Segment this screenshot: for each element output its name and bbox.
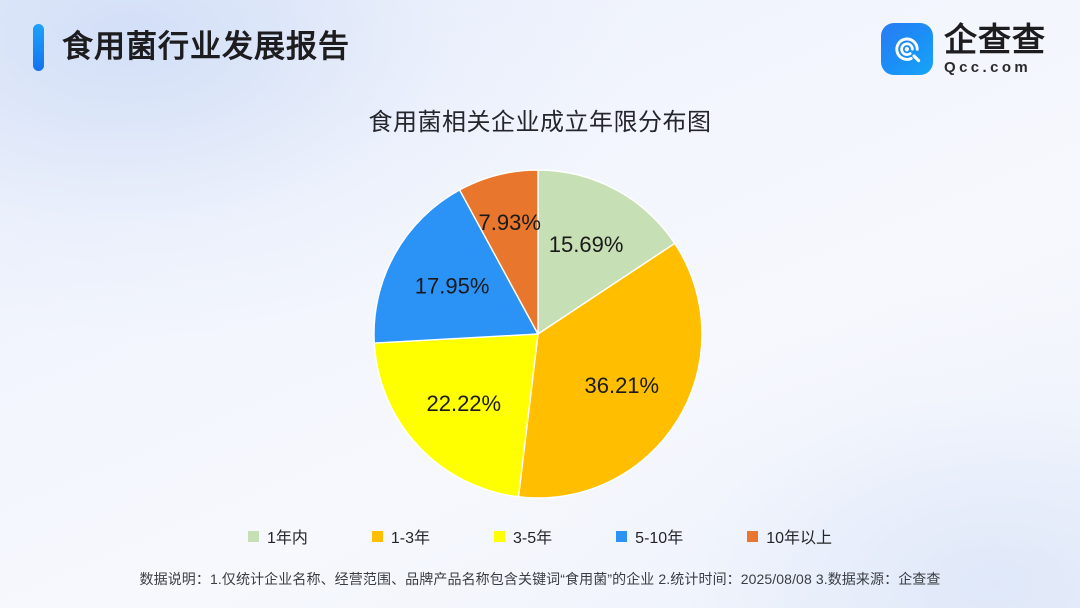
legend-swatch-icon	[248, 531, 259, 542]
pie-chart-svg: 15.69%36.21%22.22%17.95%7.93%	[372, 168, 704, 500]
legend-label: 1年内	[267, 524, 308, 548]
legend-label: 5-10年	[635, 524, 683, 548]
legend-item[interactable]: 5-10年	[616, 524, 683, 548]
chart-legend: 1年内1-3年3-5年5-10年10年以上	[0, 524, 1080, 548]
qcc-logo-icon	[881, 23, 933, 75]
legend-label: 3-5年	[513, 524, 552, 548]
pie-slice-label: 36.21%	[584, 373, 659, 398]
pie-slice-label: 7.93%	[479, 210, 541, 235]
footer-note: 数据说明：1.仅统计企业名称、经营范围、品牌产品名称包含关键词“食用菌”的企业 …	[0, 569, 1080, 589]
brand-name-cn: 企查查	[944, 23, 1046, 57]
brand-name-en: Qcc.com	[944, 59, 1046, 76]
legend-item[interactable]: 3-5年	[494, 524, 552, 548]
page-title: 食用菌行业发展报告	[62, 22, 350, 72]
legend-item[interactable]: 1年内	[248, 524, 308, 548]
report-page: 食用菌行业发展报告 企查查 Qcc.com 食用菌相关企业成立年限分布图	[0, 0, 1080, 608]
pie-slice-label: 22.22%	[426, 391, 501, 416]
page-header: 食用菌行业发展报告 企查查 Qcc.com	[0, 0, 1080, 92]
pie-slice-label: 15.69%	[549, 232, 624, 257]
title-accent-bar	[33, 24, 44, 71]
legend-swatch-icon	[494, 531, 505, 542]
pie-chart: 15.69%36.21%22.22%17.95%7.93%	[372, 168, 704, 500]
legend-label: 10年以上	[766, 524, 832, 548]
legend-item[interactable]: 10年以上	[747, 524, 832, 548]
legend-item[interactable]: 1-3年	[372, 524, 430, 548]
legend-swatch-icon	[616, 531, 627, 542]
legend-swatch-icon	[372, 531, 383, 542]
brand-logo[interactable]: 企查查 Qcc.com	[881, 23, 1046, 75]
legend-label: 1-3年	[391, 524, 430, 548]
chart-title: 食用菌相关企业成立年限分布图	[0, 102, 1080, 137]
pie-slice-label: 17.95%	[415, 274, 490, 299]
brand-text: 企查查 Qcc.com	[944, 23, 1046, 76]
legend-swatch-icon	[747, 531, 758, 542]
